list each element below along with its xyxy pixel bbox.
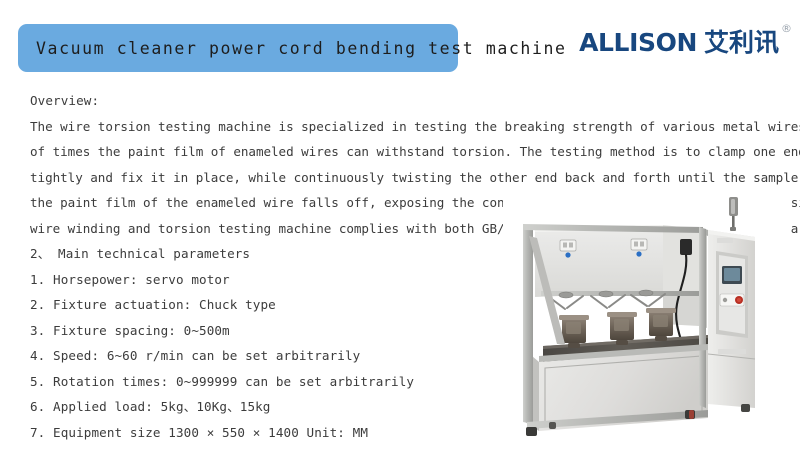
socket-indicator-light (636, 251, 641, 256)
caster-wheel (526, 427, 537, 436)
overview-line: The wire torsion testing machine is spec… (30, 114, 782, 140)
caster-brake (689, 410, 694, 419)
overview-line: tightly and fix it in place, while conti… (30, 165, 782, 191)
brand-logo: ALLISON 艾利讯 ® (579, 30, 792, 55)
control-cabinet (708, 230, 755, 408)
product-detail-page: Vacuum cleaner power cord bending test m… (0, 0, 800, 450)
caster-wheel (741, 404, 750, 412)
product-photo (503, 196, 791, 446)
nameplate-label (718, 349, 746, 354)
nameplate-label (717, 238, 733, 243)
registered-trademark-icon: ® (781, 22, 792, 35)
brand-logo-cn: 艾利讯 (704, 30, 779, 55)
page-title-banner: Vacuum cleaner power cord bending test m… (18, 24, 458, 72)
rear-backboard-panel (535, 225, 699, 297)
brand-logo-en: ALLISON (579, 30, 697, 55)
overview-heading: Overview: (30, 88, 782, 114)
socket-indicator-light (565, 252, 570, 257)
start-button-icon (723, 298, 727, 302)
leveling-foot (549, 422, 556, 429)
overview-line: of times the paint film of enameled wire… (30, 139, 782, 165)
page-title: Vacuum cleaner power cord bending test m… (18, 39, 567, 58)
